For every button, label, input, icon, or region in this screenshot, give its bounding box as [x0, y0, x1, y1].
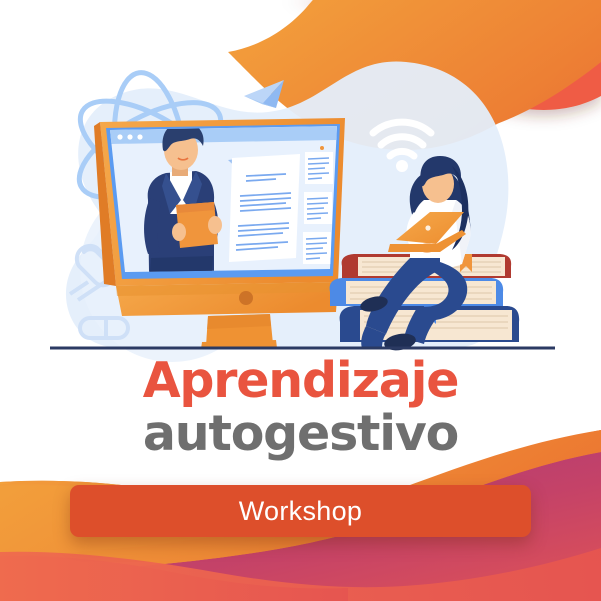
document [228, 154, 300, 262]
wifi-icon [373, 122, 431, 156]
wifi-dot [396, 160, 408, 172]
presenter-trousers [150, 256, 213, 272]
browser-dot [137, 134, 142, 139]
monitor [94, 118, 345, 349]
eraser-icon [80, 318, 128, 338]
sidebar-card [303, 232, 331, 264]
browser-dot [117, 134, 122, 139]
sidebar-card [304, 192, 332, 224]
browser-dot [127, 134, 132, 139]
presenter-hand-left [172, 223, 186, 241]
sidebar-card [305, 152, 333, 184]
sidebar-cards [303, 152, 333, 264]
browser-accent-dot [320, 146, 324, 150]
laptop-camera [425, 225, 430, 230]
monitor-screen [110, 126, 337, 272]
paper-plane-icon [244, 80, 284, 108]
workshop-button[interactable]: Workshop [70, 485, 531, 537]
workshop-button-label: Workshop [239, 496, 362, 527]
presenter-hand-right [208, 216, 222, 234]
promo-card: Aprendizaje autogestivo Workshop [0, 0, 601, 601]
monitor-power-button [239, 291, 253, 305]
